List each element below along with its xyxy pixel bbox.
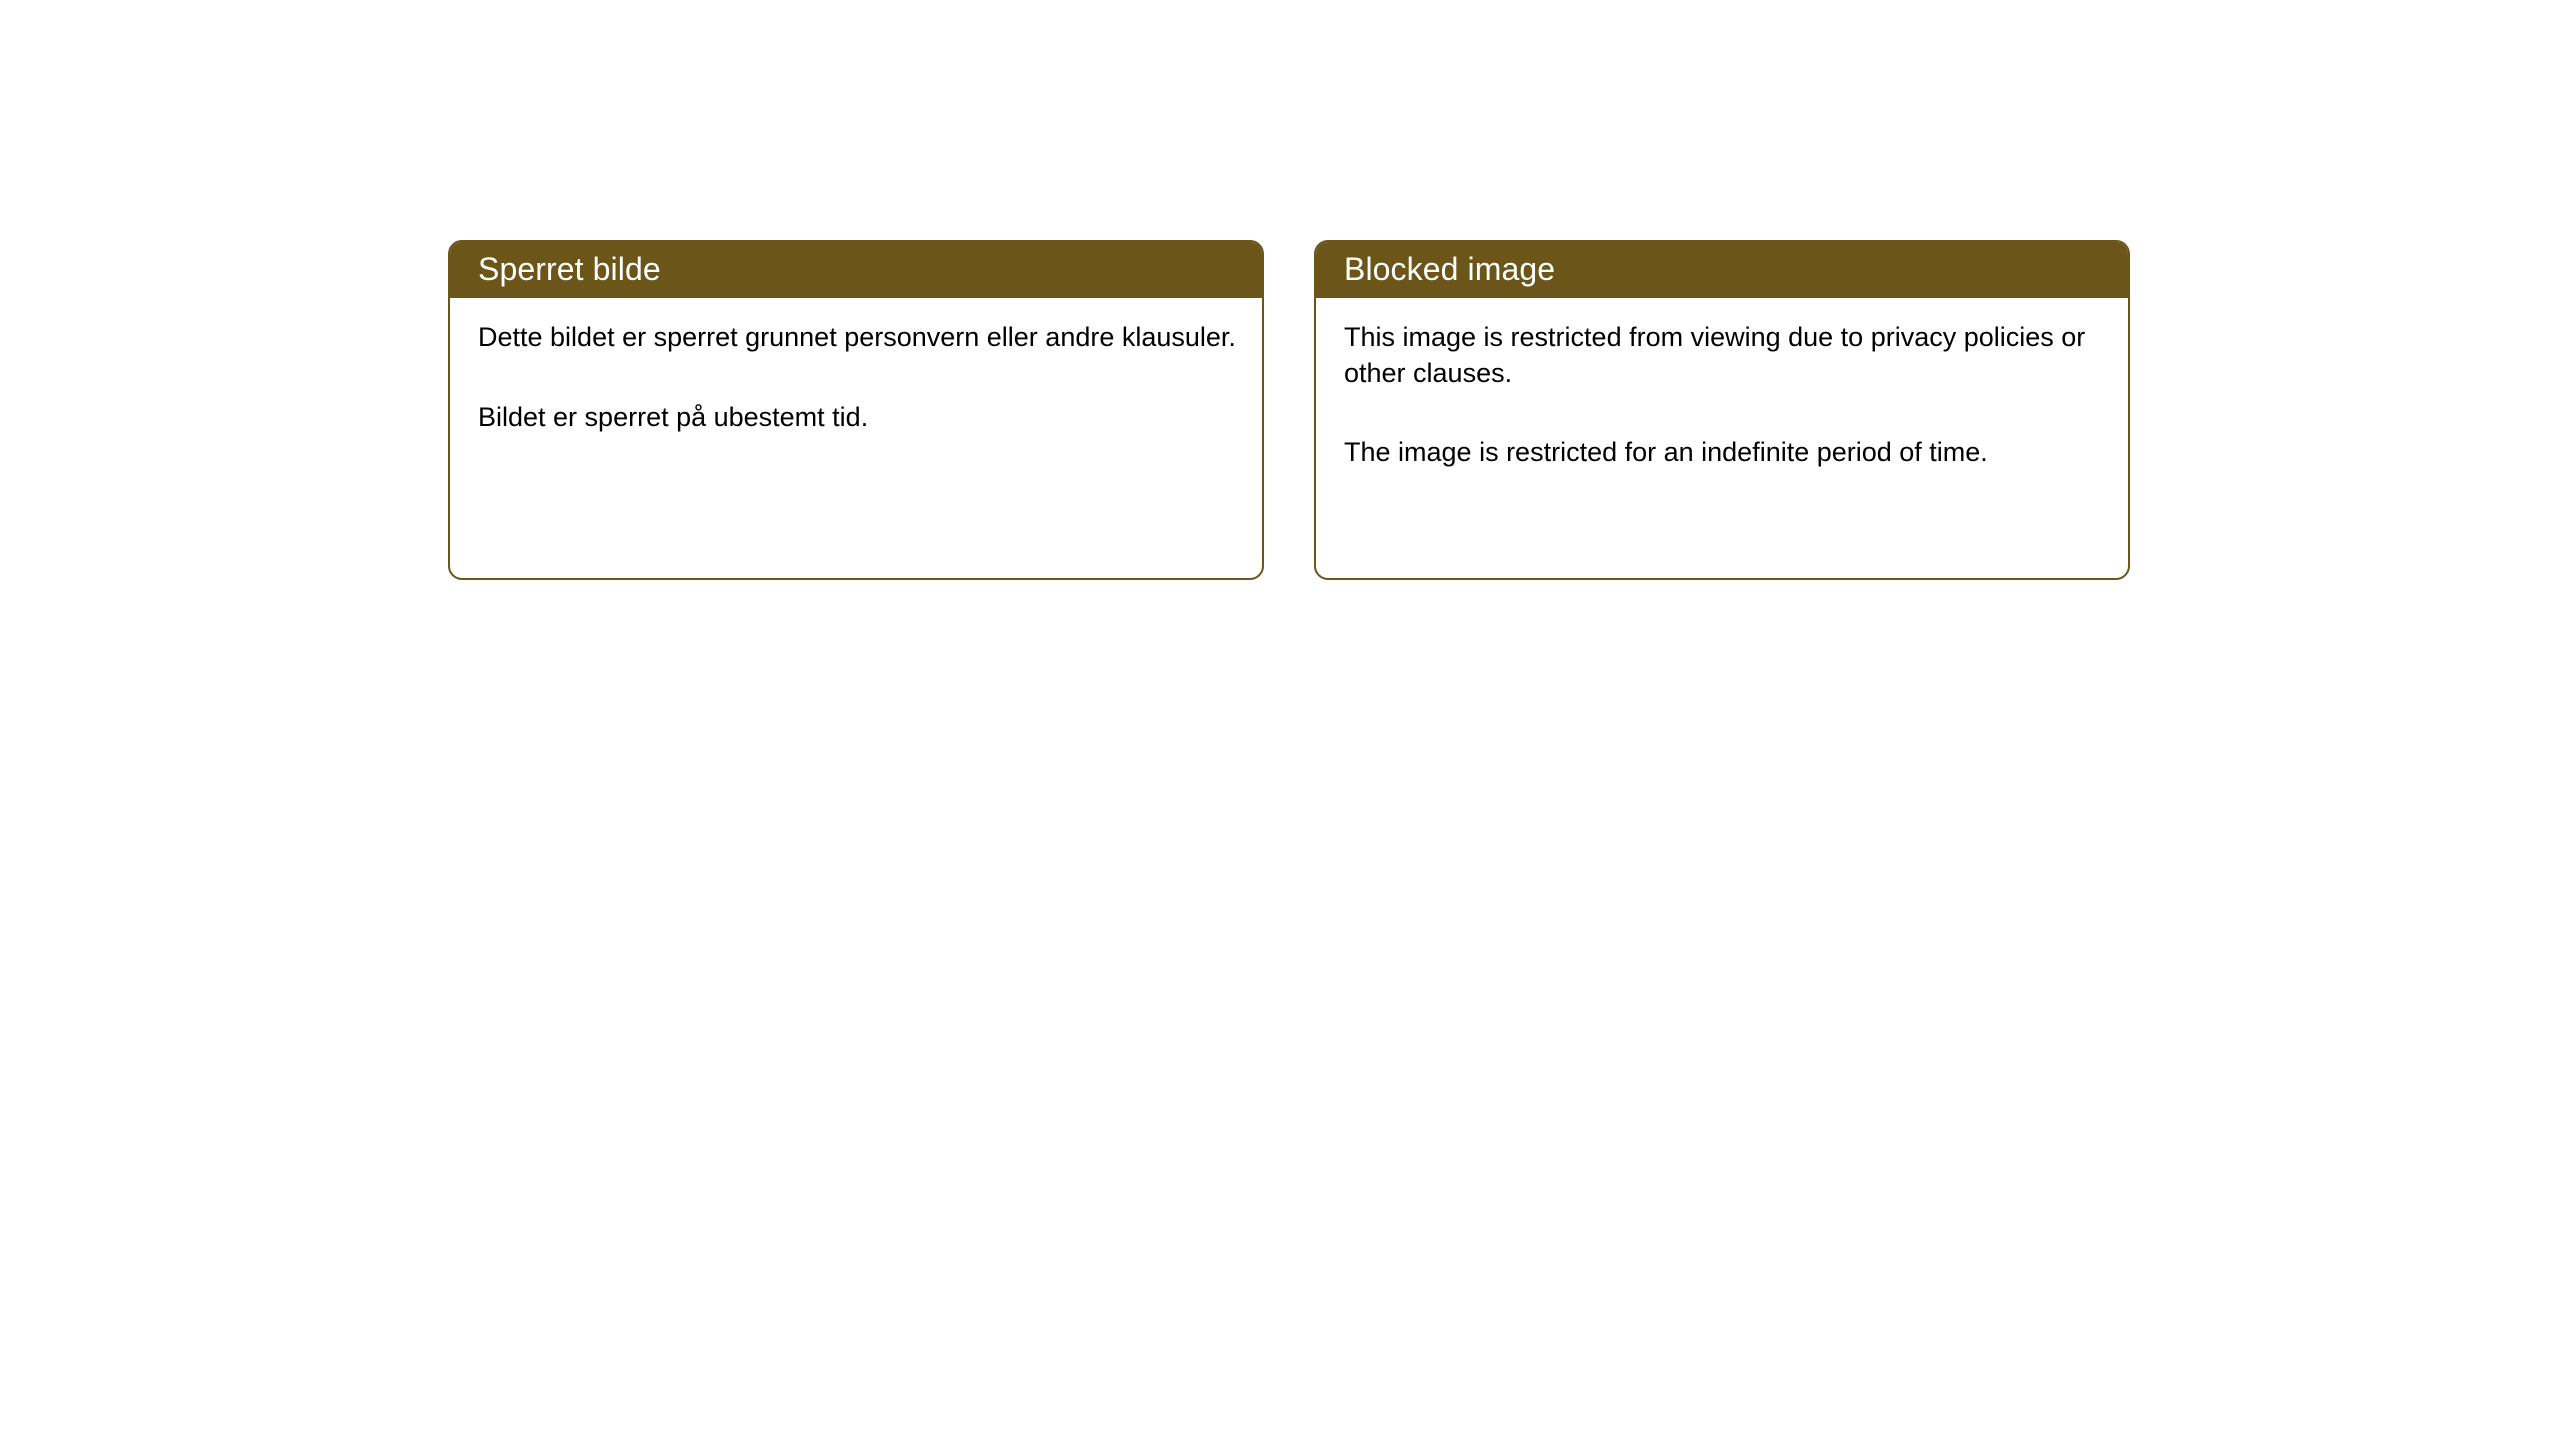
card-paragraph-reason-english: This image is restricted from viewing du… [1344, 320, 2102, 391]
card-title-norwegian: Sperret bilde [478, 253, 661, 285]
blocked-image-notice-english: Blocked image This image is restricted f… [1314, 240, 2130, 580]
card-paragraph-reason-norwegian: Dette bildet er sperret grunnet personve… [478, 320, 1236, 356]
card-header-norwegian: Sperret bilde [448, 240, 1264, 298]
card-title-english: Blocked image [1344, 253, 1555, 285]
card-body-english: This image is restricted from viewing du… [1316, 298, 2128, 471]
card-header-english: Blocked image [1314, 240, 2130, 298]
blocked-image-notice-norwegian: Sperret bilde Dette bildet er sperret gr… [448, 240, 1264, 580]
card-paragraph-duration-norwegian: Bildet er sperret på ubestemt tid. [478, 400, 1236, 436]
card-body-norwegian: Dette bildet er sperret grunnet personve… [450, 298, 1262, 435]
card-paragraph-duration-english: The image is restricted for an indefinit… [1344, 435, 2102, 471]
page-root: Sperret bilde Dette bildet er sperret gr… [0, 0, 2560, 1440]
